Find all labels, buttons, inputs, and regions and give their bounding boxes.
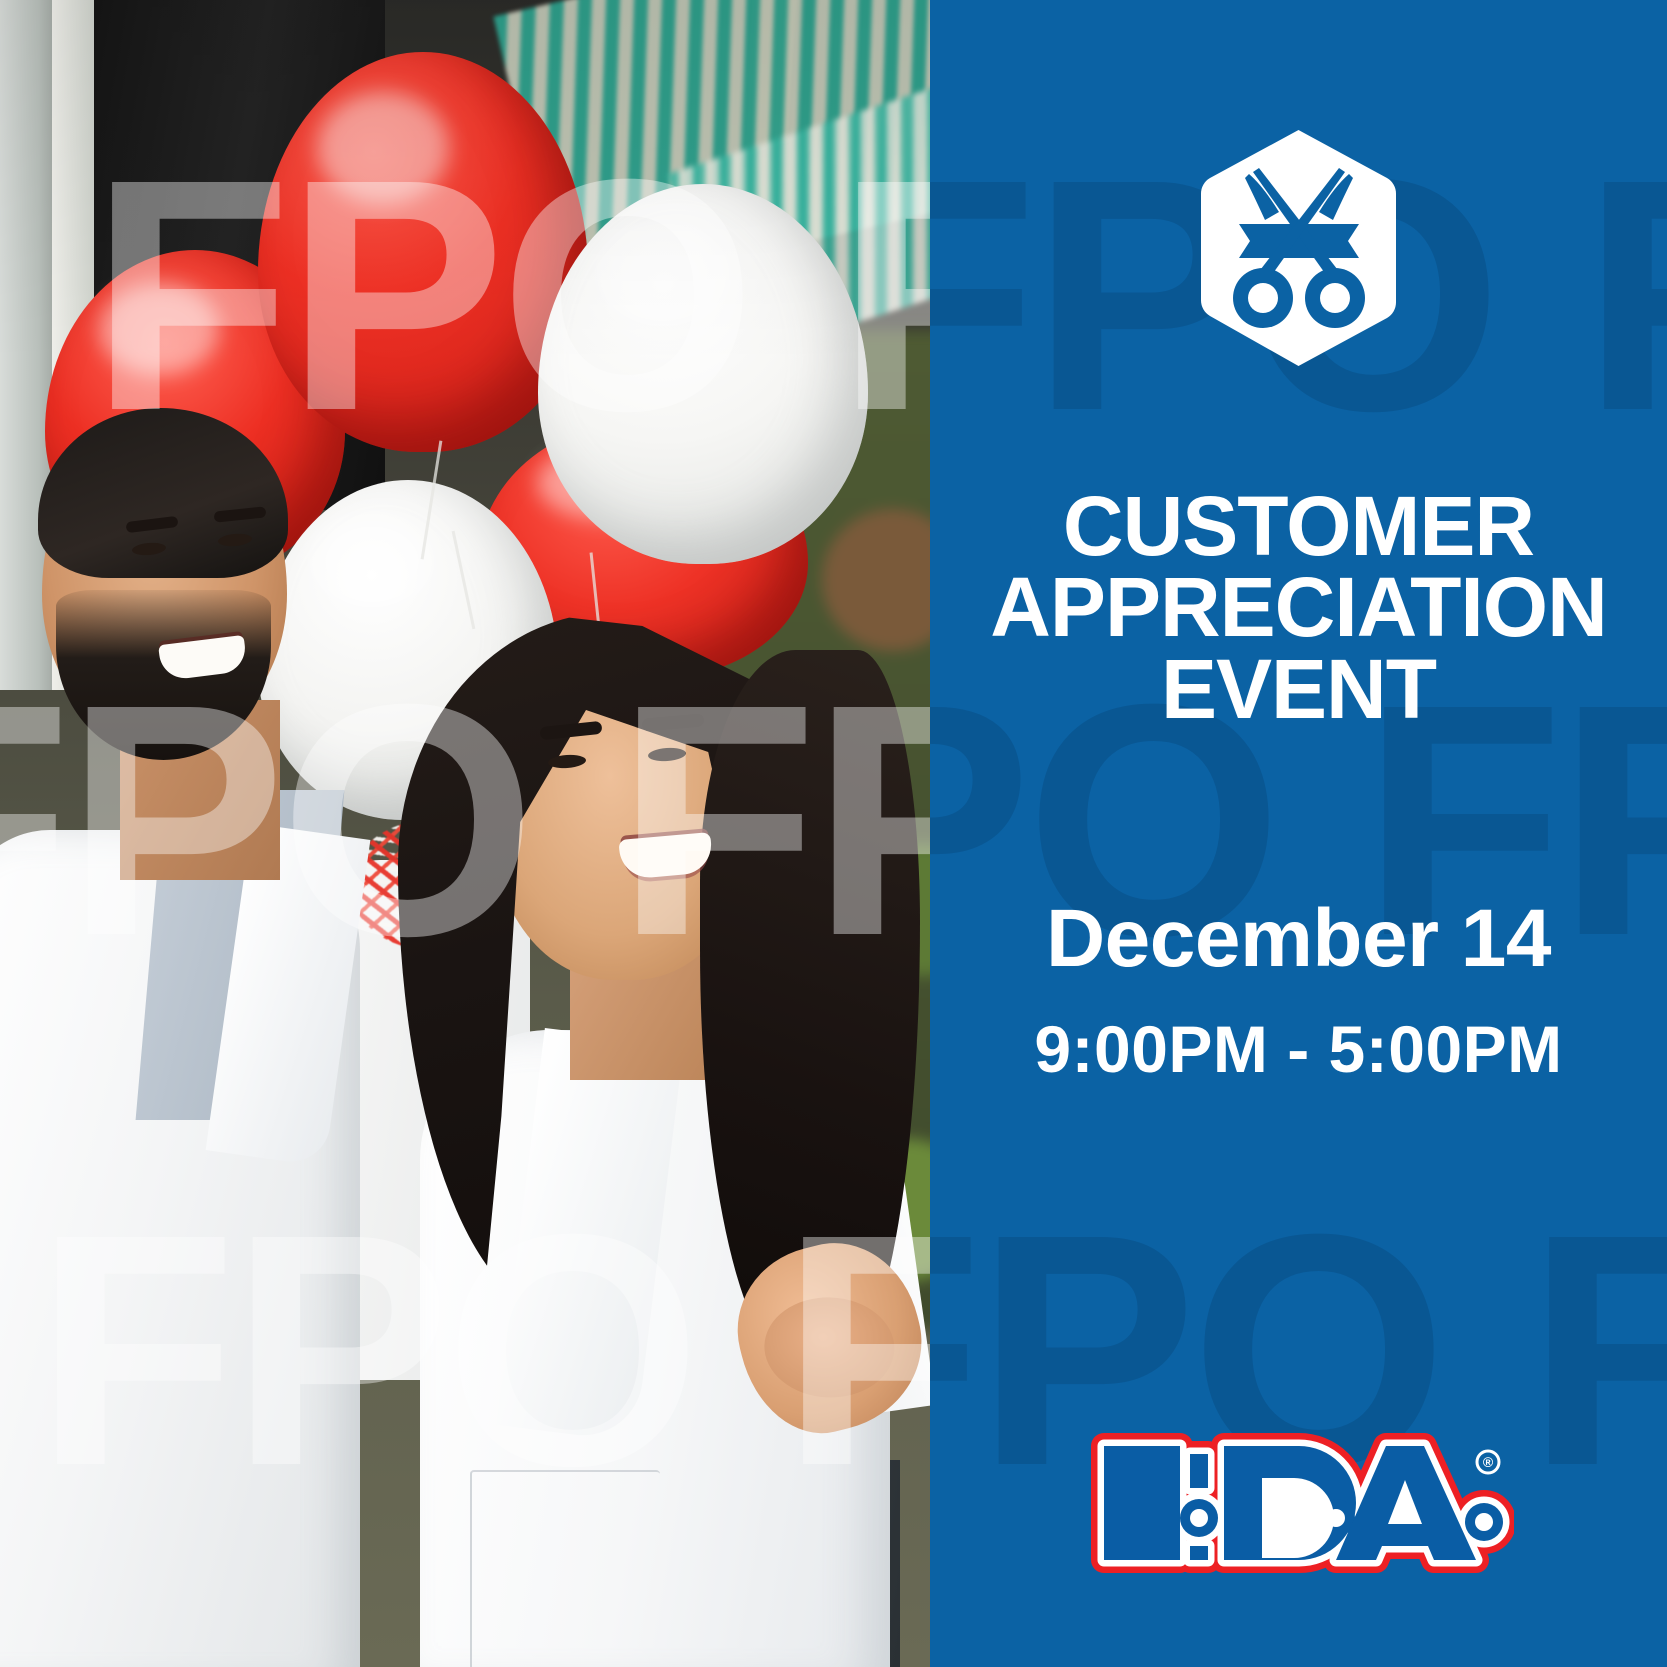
event-photo — [0, 0, 930, 1667]
poster-canvas: FPO FPO FPO FPO FPO FPO FPO FPO FPO FPO … — [0, 0, 1667, 1667]
photo-vignette — [0, 0, 930, 1667]
info-panel — [930, 0, 1667, 1667]
